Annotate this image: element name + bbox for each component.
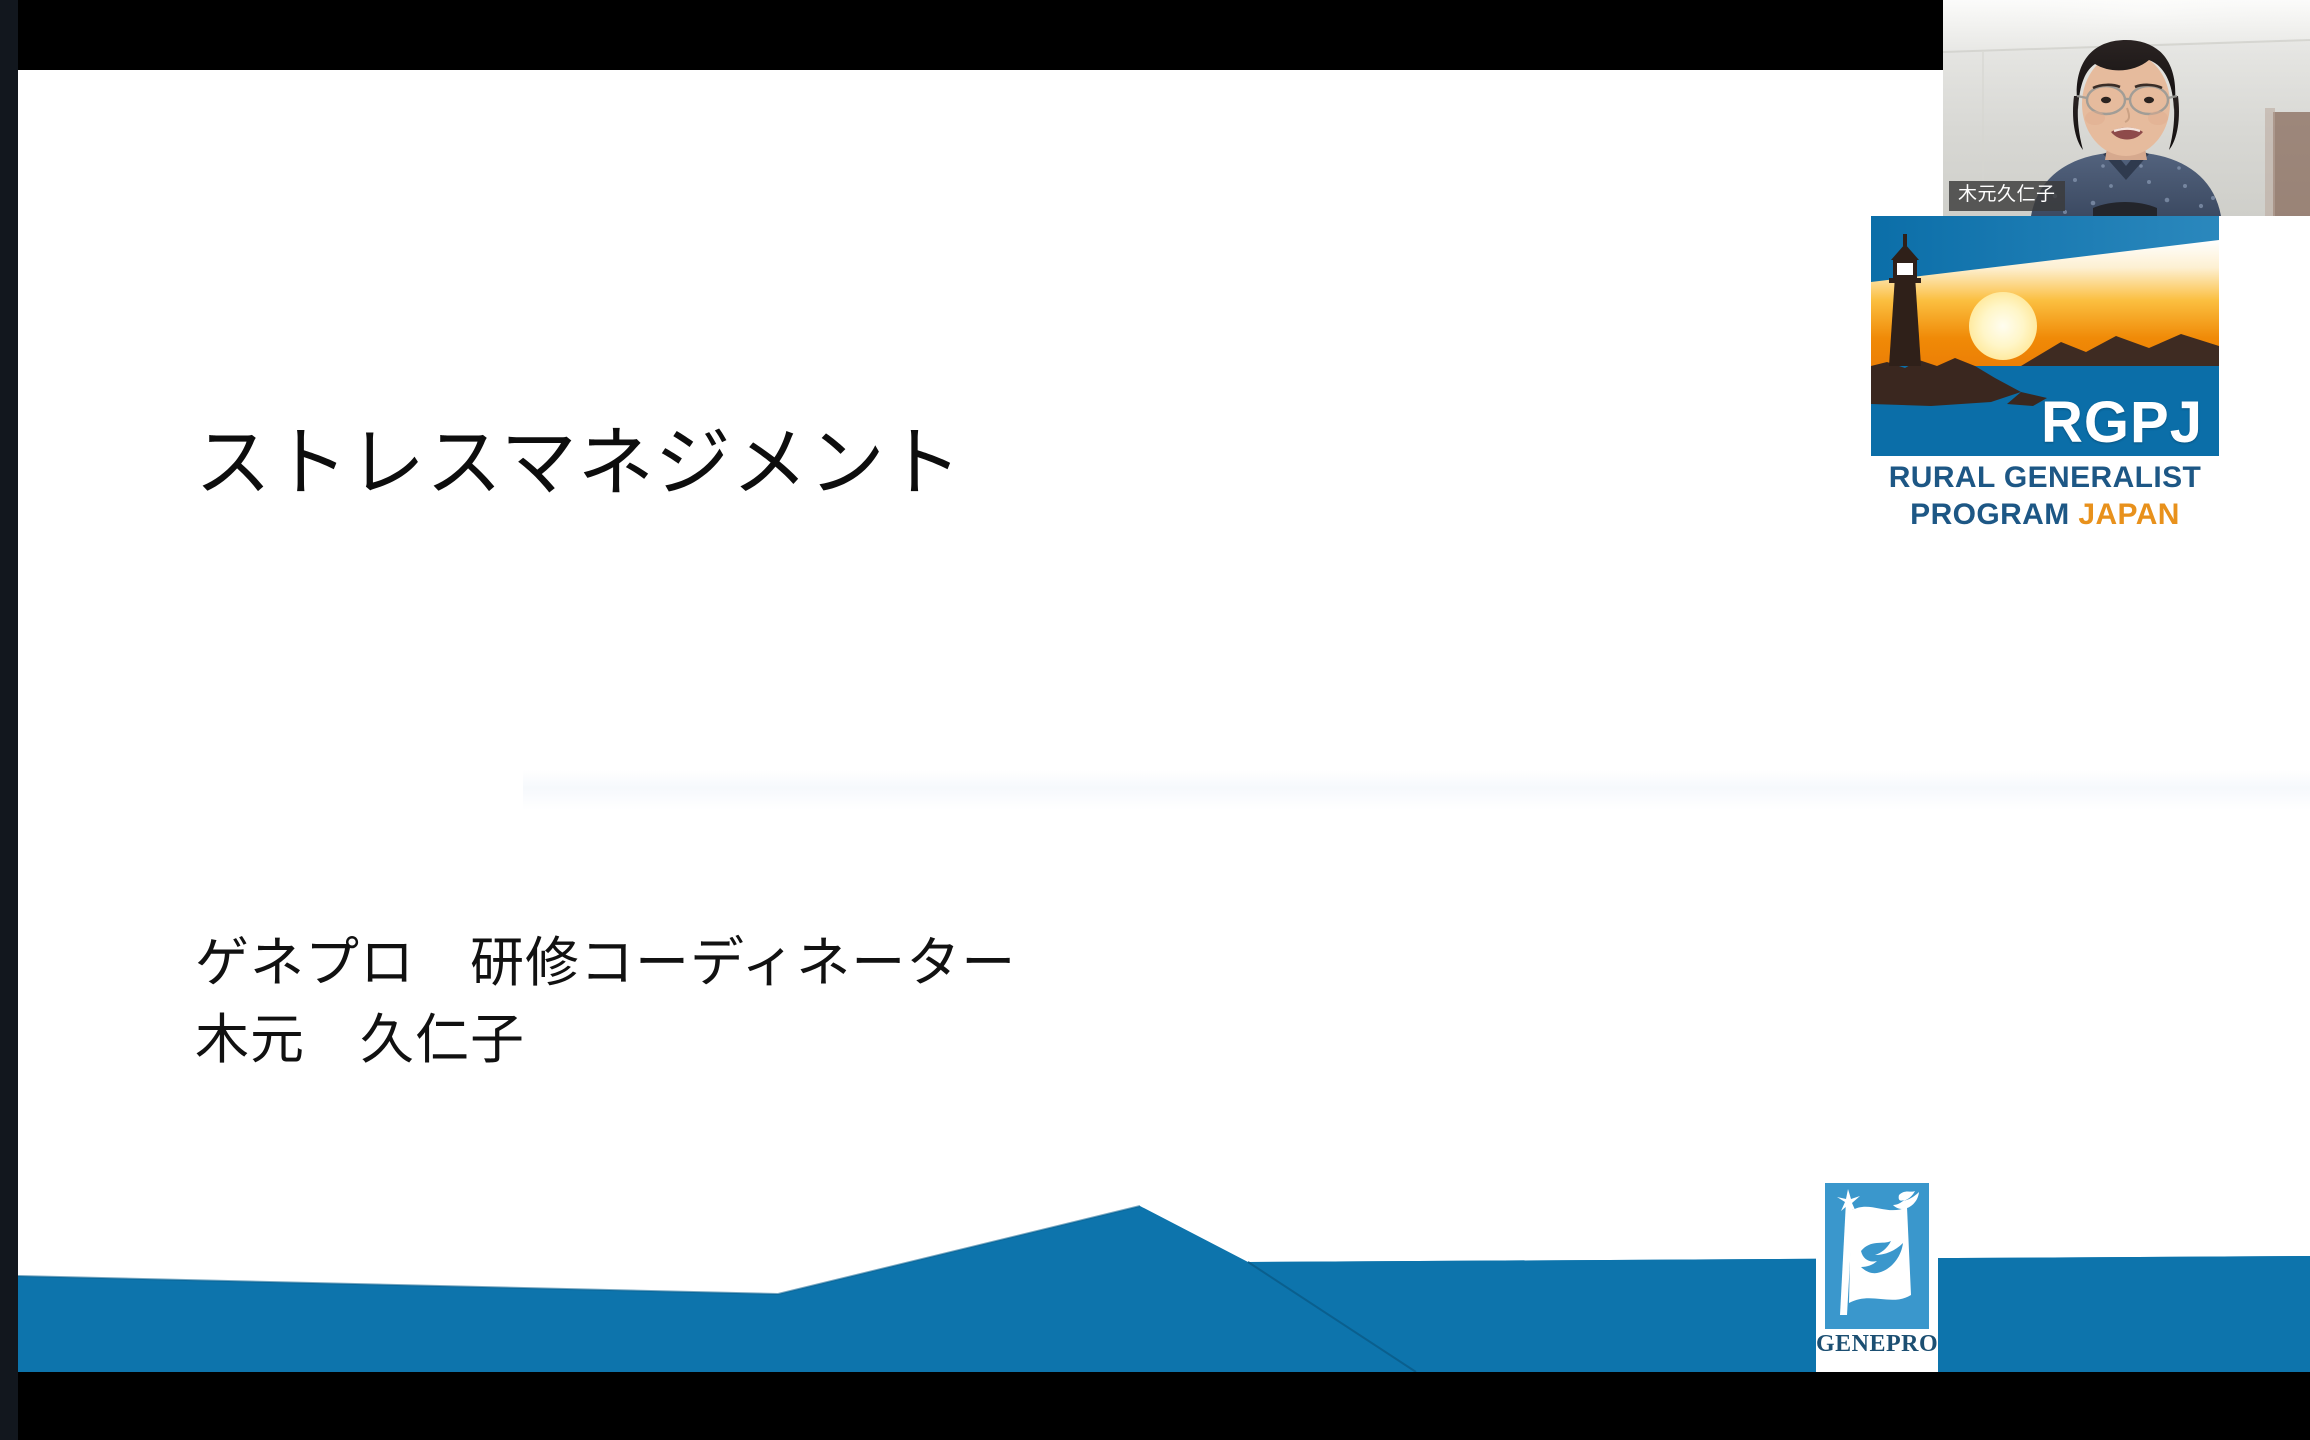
rgpj-line-1: RURAL GENERALIST: [1871, 460, 2219, 497]
screen-root: ストレスマネジメント ゲネプロ 研修コーディネーター 木元 久仁子: [0, 0, 2310, 1440]
slide-subtitle-line-2: 木元 久仁子: [195, 1002, 1016, 1079]
rgpj-line-2-accent: JAPAN: [2078, 498, 2179, 531]
rgpj-line-2: PROGRAM JAPAN: [1871, 497, 2219, 534]
rgpj-logo: RGPJ RURAL GENERALIST PROGRAM JAPAN: [1871, 216, 2219, 556]
presentation-slide: ストレスマネジメント ゲネプロ 研修コーディネーター 木元 久仁子: [18, 70, 2310, 1372]
participant-name-label: 木元久仁子: [1949, 181, 2065, 211]
left-rail: [0, 0, 18, 1440]
flag-bird-icon: [1825, 1183, 1929, 1329]
participant-video-tile[interactable]: 木元久仁子: [1943, 0, 2310, 216]
slide-subtitle: ゲネプロ 研修コーディネーター 木元 久仁子: [195, 925, 1016, 1078]
genepro-wordmark: GENEPRO: [1816, 1331, 1938, 1358]
genepro-logo: GENEPRO: [1816, 1175, 1938, 1372]
slide-subtitle-line-1: ゲネプロ 研修コーディネーター: [195, 925, 1016, 1002]
slide-title: ストレスマネジメント: [195, 420, 963, 507]
slide-wave-decoration: [18, 1172, 2310, 1372]
rgpj-lighthouse-artwork: RGPJ: [1871, 216, 2219, 456]
rgpj-line-2-main: PROGRAM: [1910, 498, 2078, 531]
letterbox-bottom: [18, 1372, 2310, 1440]
rgpj-wordmark: RURAL GENERALIST PROGRAM JAPAN: [1871, 460, 2219, 533]
rgpj-acronym: RGPJ: [2041, 394, 2203, 452]
slide-faint-band: [523, 770, 2310, 810]
genepro-flag-icon: [1825, 1183, 1929, 1329]
